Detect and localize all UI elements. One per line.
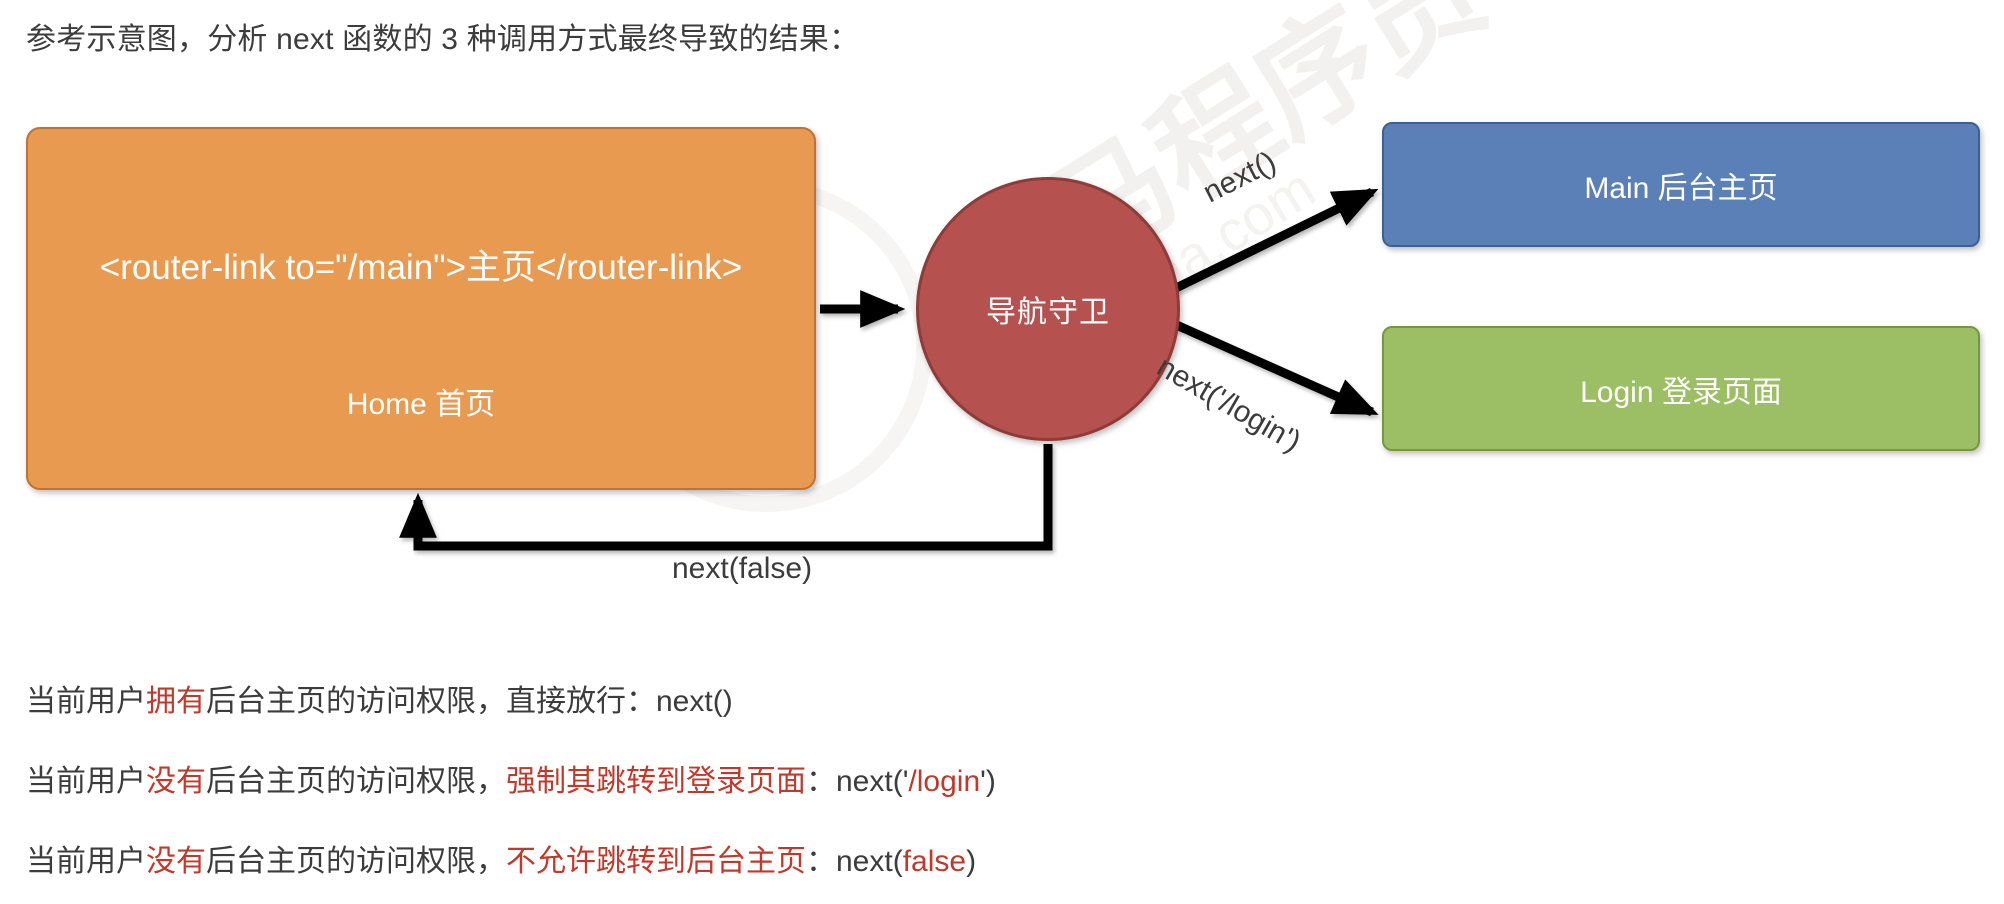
node-home-caption: Home 首页 bbox=[347, 379, 495, 423]
note-highlight: 不允许跳转到后台主页 bbox=[506, 845, 806, 878]
node-navigation-guard[interactable]: 导航守卫 bbox=[916, 177, 1180, 441]
note-text: 当前用户 bbox=[26, 685, 146, 718]
node-login-page[interactable]: Login 登录页面 bbox=[1382, 326, 1980, 451]
node-login-page-label: Login 登录页面 bbox=[1580, 367, 1782, 411]
note-text: ：next( bbox=[806, 845, 903, 878]
node-main-page-label: Main 后台主页 bbox=[1584, 163, 1777, 207]
note-highlight: 没有 bbox=[146, 845, 206, 878]
note-text: 当前用户 bbox=[26, 765, 146, 798]
note-text: 后台主页的访问权限， bbox=[206, 845, 506, 878]
note-text: 后台主页的访问权限，直接放行：next() bbox=[206, 685, 733, 718]
note-highlight: 没有 bbox=[146, 765, 206, 798]
edge-guard-to-main bbox=[1172, 192, 1372, 290]
node-main-page[interactable]: Main 后台主页 bbox=[1382, 122, 1980, 247]
note-line: 当前用户没有后台主页的访问权限，强制其跳转到登录页面：next('/login'… bbox=[26, 742, 1926, 822]
flow-diagram: <router-link to="/main">主页</router-link>… bbox=[0, 0, 2004, 640]
node-home[interactable]: <router-link to="/main">主页</router-link>… bbox=[26, 127, 816, 490]
note-line: 当前用户拥有后台主页的访问权限，直接放行：next() bbox=[26, 662, 1926, 742]
notes-list: 当前用户拥有后台主页的访问权限，直接放行：next() 当前用户没有后台主页的访… bbox=[26, 662, 1926, 902]
note-highlight: false bbox=[903, 845, 966, 878]
note-text: ：next(' bbox=[806, 765, 908, 798]
note-text: 当前用户 bbox=[26, 845, 146, 878]
node-home-code: <router-link to="/main">主页</router-link> bbox=[100, 247, 742, 289]
node-navigation-guard-label: 导航守卫 bbox=[986, 287, 1110, 331]
note-text: ') bbox=[980, 765, 996, 798]
note-text: ) bbox=[966, 845, 976, 878]
note-text: 后台主页的访问权限， bbox=[206, 765, 506, 798]
note-highlight: 拥有 bbox=[146, 685, 206, 718]
note-highlight: /login bbox=[908, 765, 980, 798]
note-line: 当前用户没有后台主页的访问权限，不允许跳转到后台主页：next(false) bbox=[26, 822, 1926, 902]
edge-label-next-false: next(false) bbox=[672, 552, 812, 586]
note-highlight: 强制其跳转到登录页面 bbox=[506, 765, 806, 798]
